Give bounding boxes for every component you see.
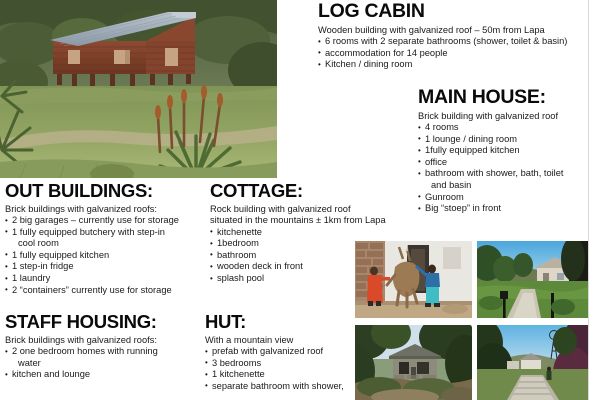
hut-heading: HUT: (205, 313, 405, 332)
list-item: 2 “containers” currently use for storage (5, 285, 210, 297)
list-item: wooden deck in front (210, 261, 410, 273)
list-item: 1 kitchenette (205, 369, 405, 381)
out-buildings-heading: OUT BUILDINGS: (5, 182, 210, 201)
cottage-list: kitchenette 1bedroom bathroom wooden dec… (210, 227, 410, 285)
list-item: kitchen and lounge (5, 369, 210, 381)
hut-list: prefab with galvanized roof 3 bedrooms 1… (205, 346, 405, 392)
cottage-heading: COTTAGE: (210, 182, 410, 201)
section-main-house: MAIN HOUSE: Brick building with galvaniz… (418, 88, 590, 215)
main-house-heading: MAIN HOUSE: (418, 88, 590, 108)
section-hut: HUT: With a mountain view prefab with ga… (205, 313, 405, 392)
staff-housing-list: 2 one bedroom homes with running water k… (5, 346, 210, 381)
list-item: bathroom with shower, bath, toilet (418, 168, 590, 180)
list-item: 2 big garages – currently use for storag… (5, 215, 210, 227)
hut-intro: With a mountain view (205, 335, 405, 347)
list-item: bathroom (210, 250, 410, 262)
list-item: 6 rooms with 2 separate bathrooms (showe… (318, 36, 590, 48)
list-item: prefab with galvanized roof (205, 346, 405, 358)
log-cabin-heading: LOG CABIN (318, 2, 590, 22)
path-photo (477, 325, 588, 400)
list-item: Kitchen / dining room (318, 59, 590, 71)
list-item: 4 rooms (418, 122, 590, 134)
main-house-list: 4 rooms 1 lounge / dining room 1fully eq… (418, 122, 590, 215)
list-item: splash pool (210, 273, 410, 285)
list-item: 3 bedrooms (205, 358, 405, 370)
main-house-intro: Brick building with galvanized roof (418, 111, 590, 123)
list-item: 1fully equipped kitchen (418, 145, 590, 157)
flyer-page: LOG CABIN Wooden building with galvanize… (0, 0, 600, 400)
cottage-intro-line2: situated in the mountains ± 1km from Lap… (210, 215, 410, 227)
section-cottage: COTTAGE: Rock building with galvanized r… (210, 182, 410, 285)
cottage-intro: Rock building with galvanized roof (210, 204, 410, 216)
garden-photo (477, 241, 588, 318)
staff-housing-intro: Brick buildings with galvanized roofs: (5, 335, 210, 347)
list-item: 1 laundry (5, 273, 210, 285)
section-out-buildings: OUT BUILDINGS: Brick buildings with galv… (5, 182, 210, 296)
list-item-continuation: cool room (5, 238, 210, 250)
log-cabin-intro: Wooden building with galvanized roof – 5… (318, 25, 590, 37)
log-cabin-list: 6 rooms with 2 separate bathrooms (showe… (318, 36, 590, 71)
list-item: 1 fully equipped butchery with step-in (5, 227, 210, 239)
list-item: accommodation for 14 people (318, 48, 590, 60)
list-item-continuation: water (5, 358, 210, 370)
out-buildings-intro: Brick buildings with galvanized roofs: (5, 204, 210, 216)
list-item: Gunroom (418, 192, 590, 204)
staff-housing-heading: STAFF HOUSING: (5, 313, 210, 332)
list-item: 2 one bedroom homes with running (5, 346, 210, 358)
list-item: 1 lounge / dining room (418, 134, 590, 146)
log-cabin-photo (0, 0, 277, 178)
section-log-cabin: LOG CABIN Wooden building with galvanize… (318, 2, 590, 71)
list-item: 1bedroom (210, 238, 410, 250)
list-item: kitchenette (210, 227, 410, 239)
section-staff-housing: STAFF HOUSING: Brick buildings with galv… (5, 313, 210, 381)
list-item: 1 step-in fridge (5, 261, 210, 273)
list-item-continuation: and basin (418, 180, 590, 192)
out-buildings-list: 2 big garages – currently use for storag… (5, 215, 210, 296)
list-item: office (418, 157, 590, 169)
list-item: separate bathroom with shower, (205, 381, 405, 393)
list-item: Big “stoep” in front (418, 203, 590, 215)
list-item: 1 fully equipped kitchen (5, 250, 210, 262)
